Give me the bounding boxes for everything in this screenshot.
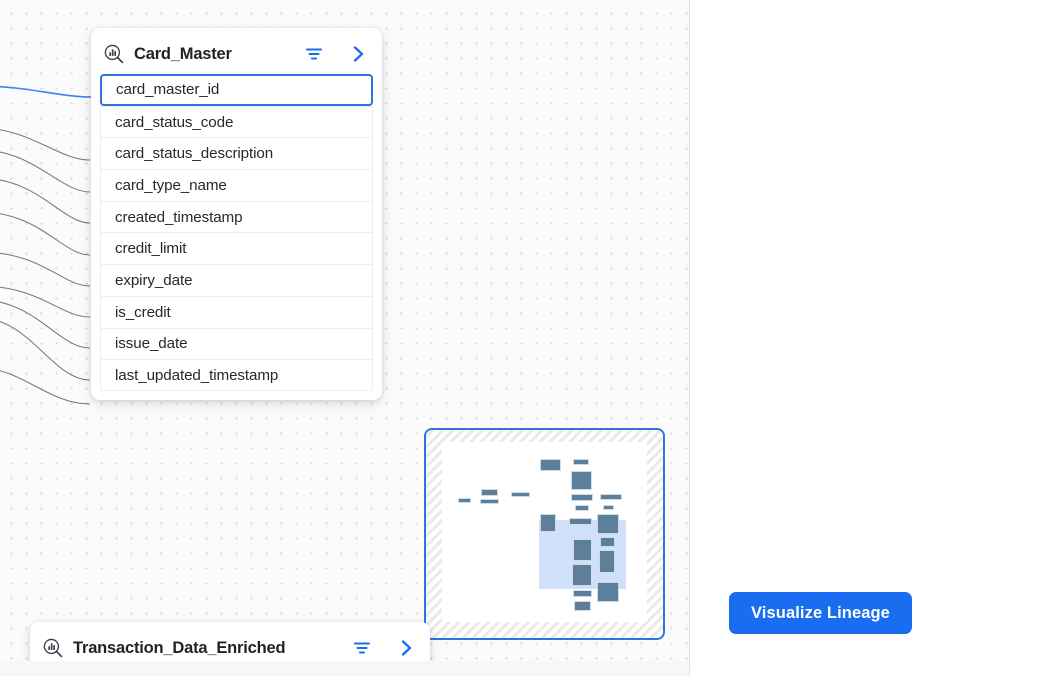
minimap-node <box>571 471 592 490</box>
column-row[interactable]: card_type_name <box>100 169 373 201</box>
minimap-node <box>572 564 592 586</box>
minimap-node <box>574 601 591 611</box>
minimap-node <box>573 459 589 465</box>
column-row[interactable]: card_master_id <box>100 74 373 106</box>
chevron-right-icon[interactable] <box>395 637 417 659</box>
column-list: card_master_idcard_status_codecard_statu… <box>100 74 373 391</box>
minimap-node <box>573 539 592 561</box>
visualize-lineage-button[interactable]: Visualize Lineage <box>729 592 912 634</box>
lineage-canvas[interactable]: Card_Master ca <box>0 0 690 661</box>
filter-icon[interactable] <box>303 43 325 65</box>
node-title: Card_Master <box>134 45 232 64</box>
column-row[interactable]: card_status_description <box>100 137 373 169</box>
minimap-node <box>603 505 614 510</box>
minimap-node <box>458 498 471 503</box>
minimap-node <box>600 537 615 547</box>
minimap-node <box>573 590 592 597</box>
data-profile-magnifier-icon[interactable] <box>103 43 125 65</box>
minimap-node <box>599 550 615 573</box>
minimap-node <box>540 459 561 471</box>
minimap-node <box>540 514 556 532</box>
minimap-content <box>442 442 647 622</box>
node-header: Card_Master <box>100 34 373 74</box>
minimap-node <box>511 492 530 497</box>
column-row[interactable]: expiry_date <box>100 264 373 296</box>
data-profile-magnifier-icon[interactable] <box>42 637 64 659</box>
minimap-node <box>600 494 622 500</box>
details-panel: Visualize Lineage <box>691 0 1058 676</box>
filter-icon[interactable] <box>351 637 373 659</box>
node-card-transaction-data-enriched[interactable]: Transaction_Data_Enriched <box>30 622 430 661</box>
minimap-node <box>569 518 592 525</box>
column-row[interactable]: issue_date <box>100 328 373 360</box>
node-header: Transaction_Data_Enriched <box>39 628 421 661</box>
column-row[interactable]: credit_limit <box>100 232 373 264</box>
node-title: Transaction_Data_Enriched <box>73 639 285 658</box>
app-root: Card_Master ca <box>0 0 1058 676</box>
minimap-node <box>481 489 498 496</box>
column-row[interactable]: created_timestamp <box>100 201 373 233</box>
minimap-node <box>575 505 589 511</box>
column-row[interactable]: last_updated_timestamp <box>100 359 373 391</box>
minimap-node <box>597 514 619 534</box>
column-row[interactable]: card_status_code <box>100 106 373 138</box>
lineage-minimap[interactable] <box>424 428 665 640</box>
minimap-node <box>480 499 499 504</box>
column-row[interactable]: is_credit <box>100 296 373 328</box>
canvas-bottom-strip <box>0 661 690 676</box>
minimap-node <box>597 582 619 602</box>
node-card-master[interactable]: Card_Master ca <box>91 28 382 400</box>
chevron-right-icon[interactable] <box>347 43 369 65</box>
minimap-node <box>571 494 593 501</box>
